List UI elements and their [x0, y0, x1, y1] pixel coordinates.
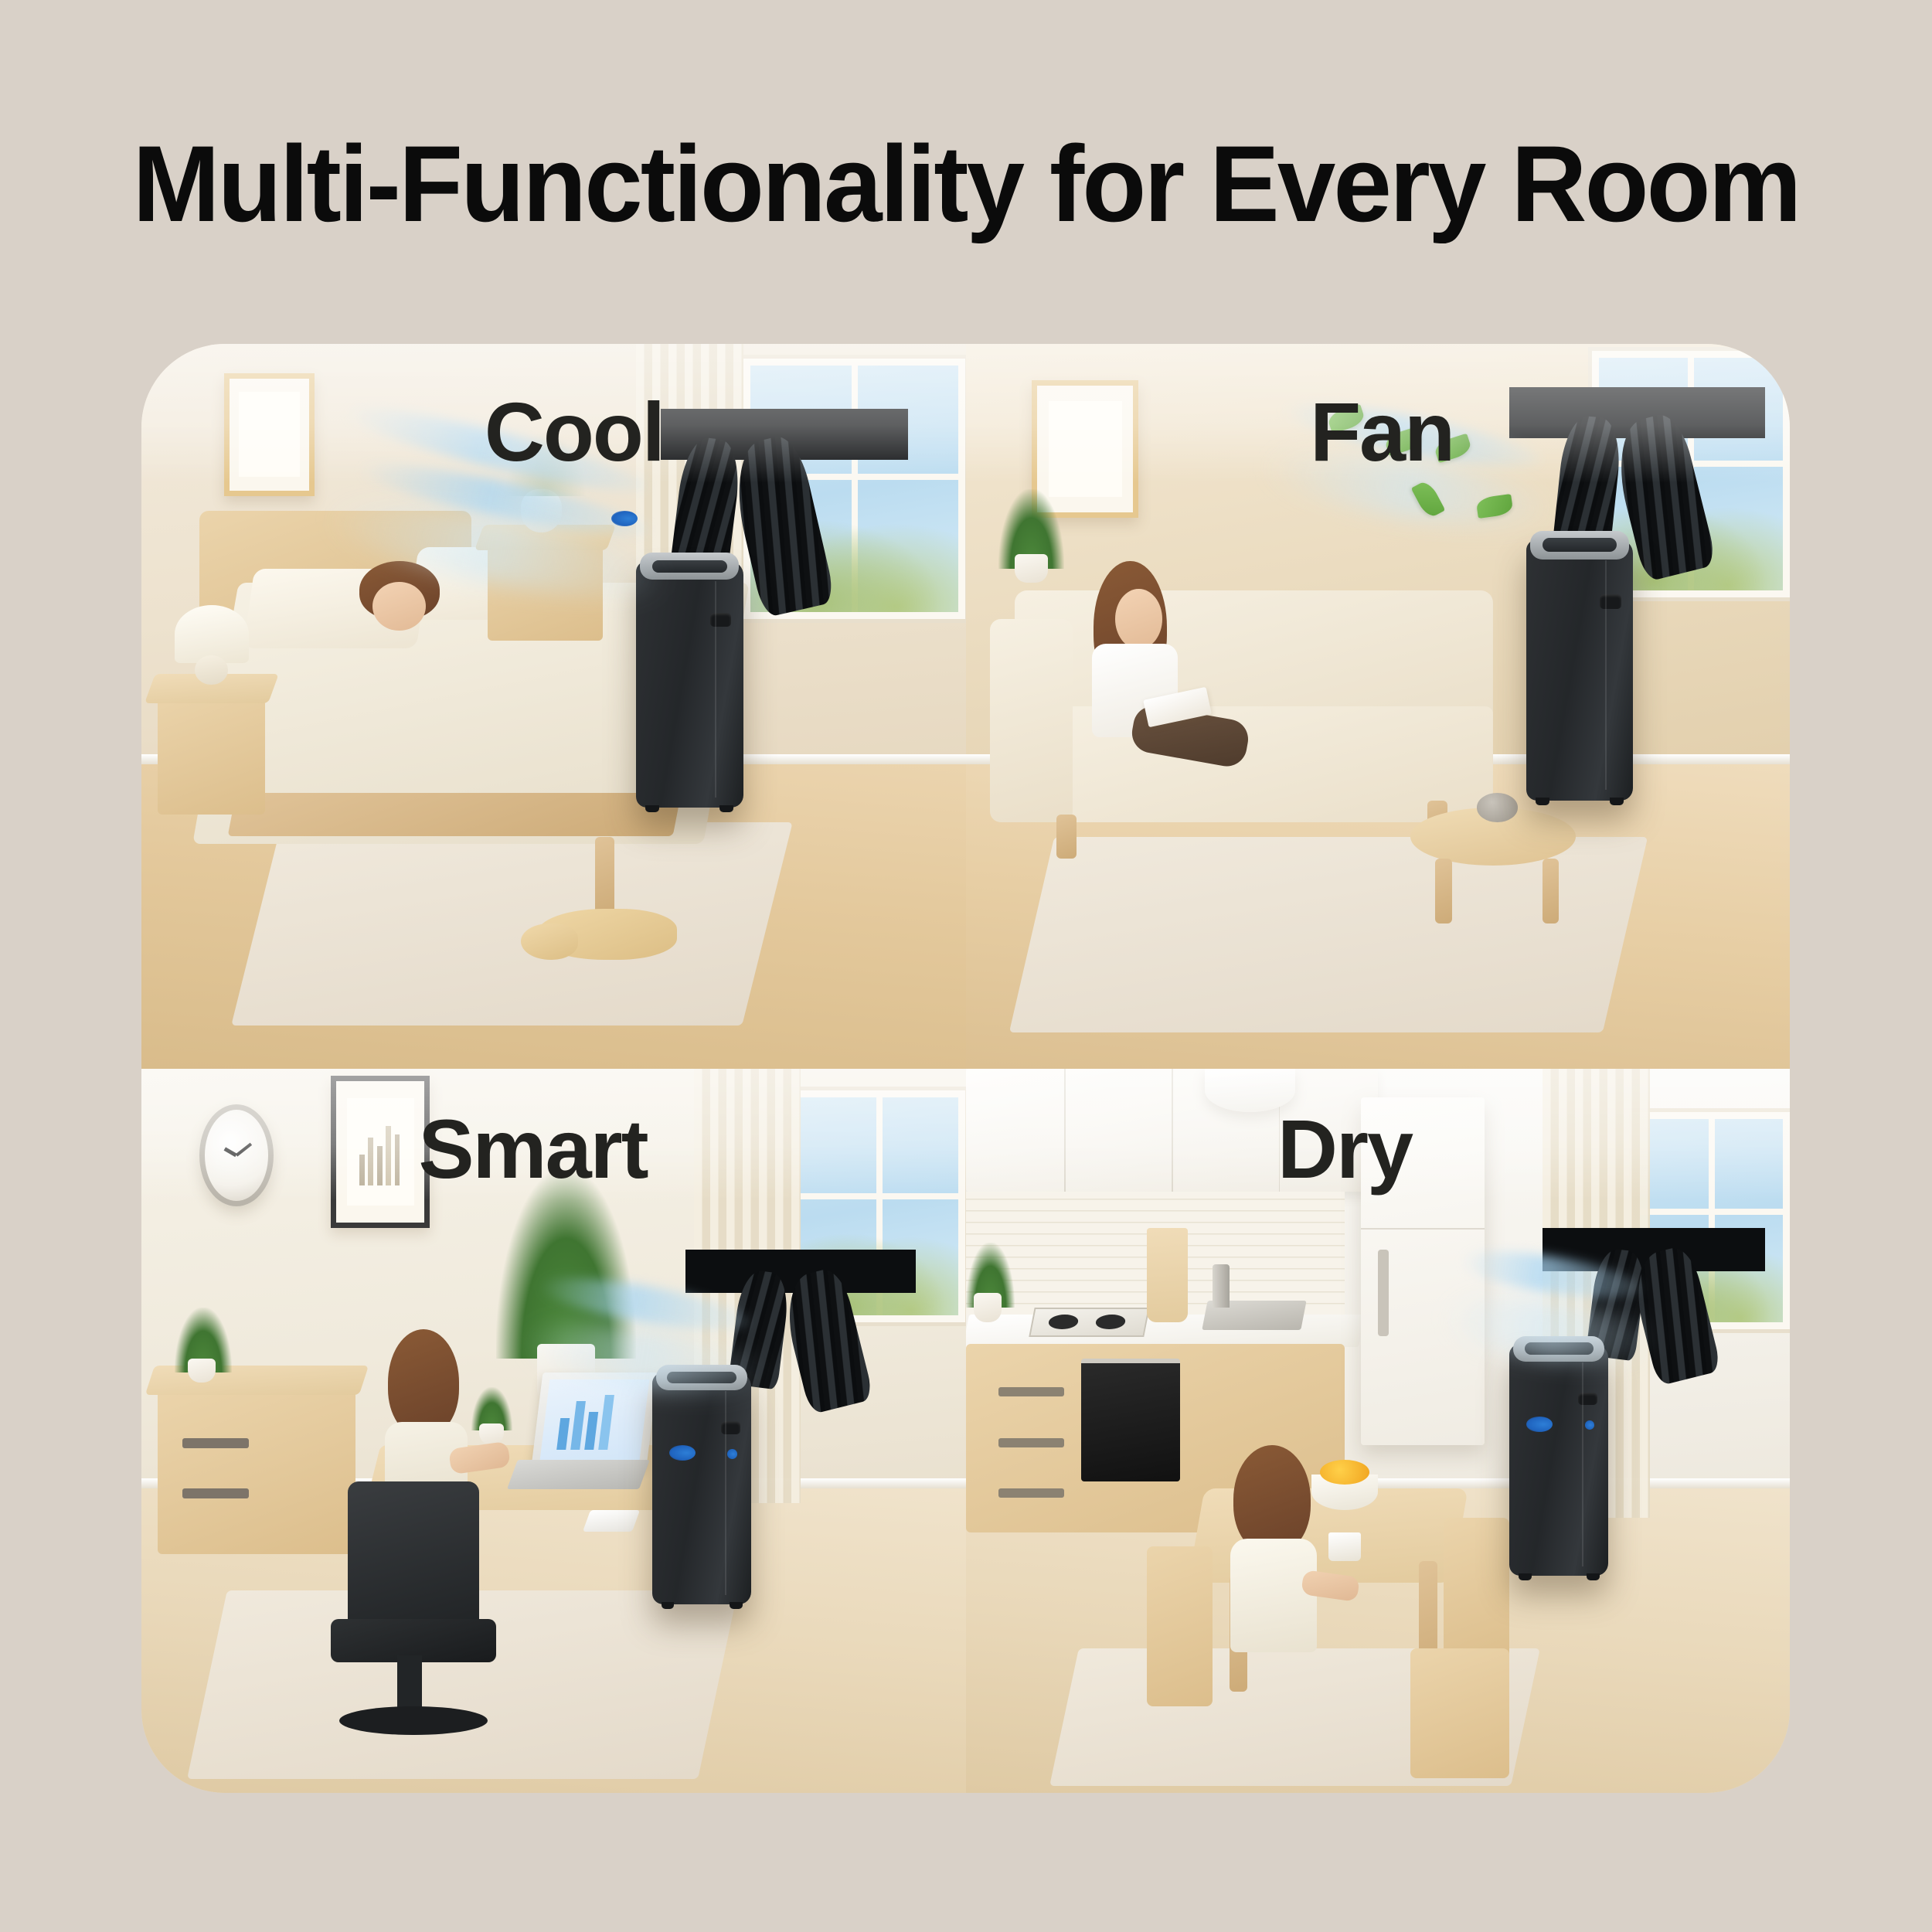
refrigerator-door-seam	[1361, 1228, 1485, 1230]
clock-minute-hand	[235, 1143, 251, 1157]
sleeping-woman	[348, 561, 463, 655]
art-bar-4	[386, 1126, 391, 1185]
art-mat	[1049, 401, 1122, 498]
panel-label-smart: Smart	[419, 1107, 648, 1191]
ac-vent-slot	[1543, 538, 1617, 552]
panel-label-dry: Dry	[1277, 1107, 1412, 1191]
sofa-arm-left	[990, 619, 1073, 822]
window-mullion-horizontal	[800, 1193, 959, 1199]
small-plant-pot	[188, 1359, 216, 1383]
ac-foot-right	[719, 805, 733, 813]
nightstand-left	[158, 692, 265, 815]
art-bar-2	[368, 1138, 373, 1185]
cooktop-burner-1	[1047, 1315, 1079, 1329]
clock-hour-hand	[224, 1147, 237, 1157]
coffee-table-leg-1	[1435, 859, 1451, 923]
ac-handle	[1600, 594, 1621, 609]
area-rug	[232, 822, 794, 1026]
stone-ornament	[1477, 793, 1518, 822]
ac-foot-left	[645, 805, 659, 813]
mouse[interactable]	[583, 1510, 640, 1532]
ac-foot-left	[1519, 1573, 1532, 1580]
ac-foot-right	[1610, 798, 1624, 805]
portable-ac-unit[interactable]	[1526, 539, 1634, 801]
art-bar-1	[359, 1155, 365, 1185]
snowflake-icon	[669, 1445, 696, 1461]
ac-body-edge	[725, 1391, 726, 1595]
panel-cool[interactable]: Cool	[141, 344, 966, 1069]
art-bar-5	[395, 1134, 400, 1185]
page-title: Multi-Functionality for Every Room	[29, 130, 1903, 238]
dining-chair-left[interactable]	[1147, 1546, 1213, 1706]
bed-base	[228, 793, 682, 836]
refrigerator-handle	[1378, 1250, 1389, 1337]
framed-bar-chart-art	[331, 1076, 430, 1228]
gas-cooktop[interactable]	[1029, 1308, 1150, 1337]
ac-body-edge	[715, 581, 716, 798]
laptop-keyboard[interactable]	[507, 1460, 649, 1489]
cooktop-burner-2	[1094, 1315, 1126, 1329]
seated-woman	[1213, 1445, 1361, 1692]
table-lamp-base	[195, 655, 228, 685]
ac-foot-right	[730, 1602, 743, 1609]
ac-foot-left	[662, 1602, 675, 1609]
ac-foot-left	[1536, 798, 1549, 805]
ac-brand-badge	[727, 1449, 737, 1459]
ac-body-edge	[1605, 560, 1607, 790]
ac-handle	[710, 613, 732, 627]
ac-vent-slot	[652, 560, 727, 573]
ac-brand-badge	[1585, 1420, 1595, 1430]
feature-collage: Cool	[141, 344, 1790, 1793]
ac-foot-right	[1587, 1573, 1600, 1580]
coffee-table-leg-2	[1543, 859, 1559, 923]
base-cabinet-handle-2	[998, 1438, 1064, 1447]
art-bar-3	[377, 1146, 383, 1185]
potted-plant-pot	[974, 1293, 1002, 1322]
potted-plant-pot	[1015, 554, 1048, 583]
art-mat	[239, 392, 300, 478]
dog-head	[521, 923, 579, 960]
base-cabinet-handle-1	[998, 1387, 1064, 1396]
office-chair-base	[339, 1706, 488, 1736]
hair	[1233, 1445, 1311, 1553]
office-chair-back[interactable]	[348, 1481, 480, 1641]
wall-clock	[199, 1104, 274, 1206]
face	[372, 582, 426, 631]
cutting-board	[1147, 1228, 1188, 1322]
framed-art	[224, 373, 315, 496]
sideboard-handle-2	[182, 1488, 248, 1498]
panel-smart[interactable]: Smart	[141, 1069, 966, 1794]
hair	[388, 1329, 459, 1436]
snowflake-icon	[1526, 1417, 1553, 1432]
ac-body-edge	[1582, 1362, 1583, 1566]
base-cabinet-handle-3	[998, 1488, 1064, 1498]
panel-dry[interactable]: Dry	[966, 1069, 1791, 1794]
snowflake-icon	[611, 511, 638, 526]
ac-handle	[721, 1421, 741, 1434]
panel-label-cool: Cool	[485, 390, 664, 474]
portable-ac-unit[interactable]	[1509, 1344, 1608, 1576]
bed-leg	[595, 837, 615, 917]
face	[1115, 589, 1162, 649]
window-mullion-horizontal	[1640, 1209, 1783, 1215]
faucet	[1213, 1264, 1229, 1308]
portable-ac-unit[interactable]	[636, 561, 743, 808]
ac-top-vent	[1530, 531, 1629, 560]
dining-chair-front[interactable]	[1410, 1648, 1509, 1779]
sideboard-cabinet	[158, 1387, 355, 1554]
ac-handle	[1578, 1393, 1598, 1406]
woman-reading	[1081, 561, 1295, 836]
oven[interactable]	[1081, 1359, 1180, 1481]
panel-label-fan: Fan	[1310, 390, 1454, 474]
upper-cabinet-seam-2	[1172, 1069, 1173, 1192]
dining-chair-right[interactable]	[1444, 1518, 1509, 1663]
upper-cabinet-seam-1	[1064, 1069, 1066, 1192]
sideboard-handle-1	[182, 1438, 248, 1448]
sofa-leg-left	[1056, 815, 1077, 858]
dress	[1230, 1539, 1316, 1652]
portable-ac-unit[interactable]	[652, 1372, 751, 1604]
table-lamp-shade	[175, 605, 249, 663]
panel-fan[interactable]: Fan	[966, 344, 1791, 1069]
